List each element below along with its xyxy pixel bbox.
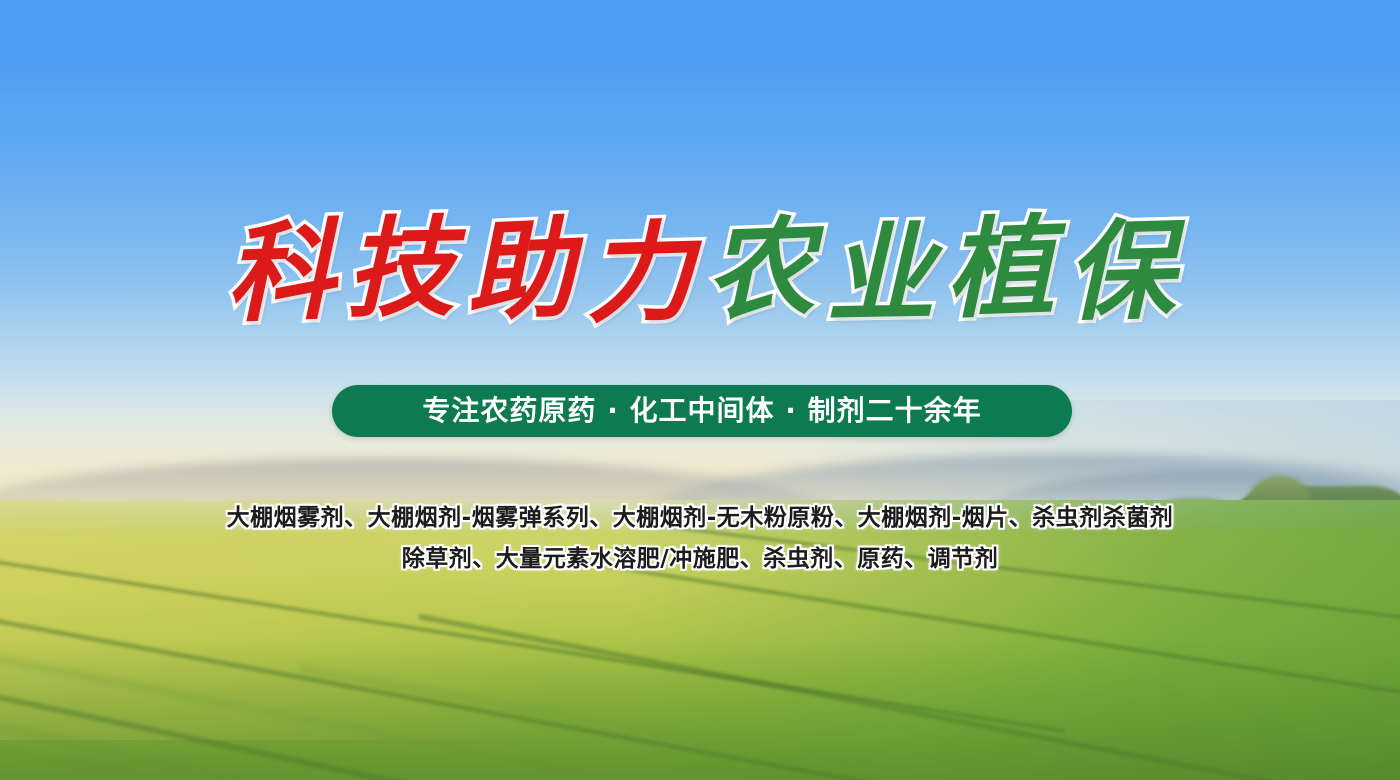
headline-char-8: 保 [1065,212,1176,335]
subtitle-text: 专注农药原药 · 化工中间体 · 制剂二十余年 [422,397,981,425]
headline-char-4: 力 [585,214,696,337]
headline-char-1: 科 [224,212,336,336]
headline-char-5: 农 [704,209,816,333]
headline-char-6: 业 [825,215,935,337]
product-line-1: 大棚烟雾剂、大棚烟剂-烟雾弹系列、大棚烟剂-无木粉原粉、大棚烟剂-烟片、杀虫剂杀… [0,498,1400,539]
product-list: 大棚烟雾剂、大棚烟剂-烟雾弹系列、大棚烟剂-无木粉原粉、大棚烟剂-烟片、杀虫剂杀… [0,498,1400,580]
field-shadow-bottom [0,640,1400,780]
subtitle-pill: 专注农药原药 · 化工中间体 · 制剂二十余年 [332,385,1072,437]
headline: 科技助力农业植保 [0,212,1400,332]
product-line-2: 除草剂、大量元素水溶肥/冲施肥、杀虫剂、原药、调节剂 [0,539,1400,580]
headline-char-7: 植 [944,208,1056,332]
headline-char-2: 技 [345,209,455,331]
headline-char-3: 助 [463,210,576,335]
promo-banner: 科技助力农业植保 专注农药原药 · 化工中间体 · 制剂二十余年 大棚烟雾剂、大… [0,0,1400,780]
